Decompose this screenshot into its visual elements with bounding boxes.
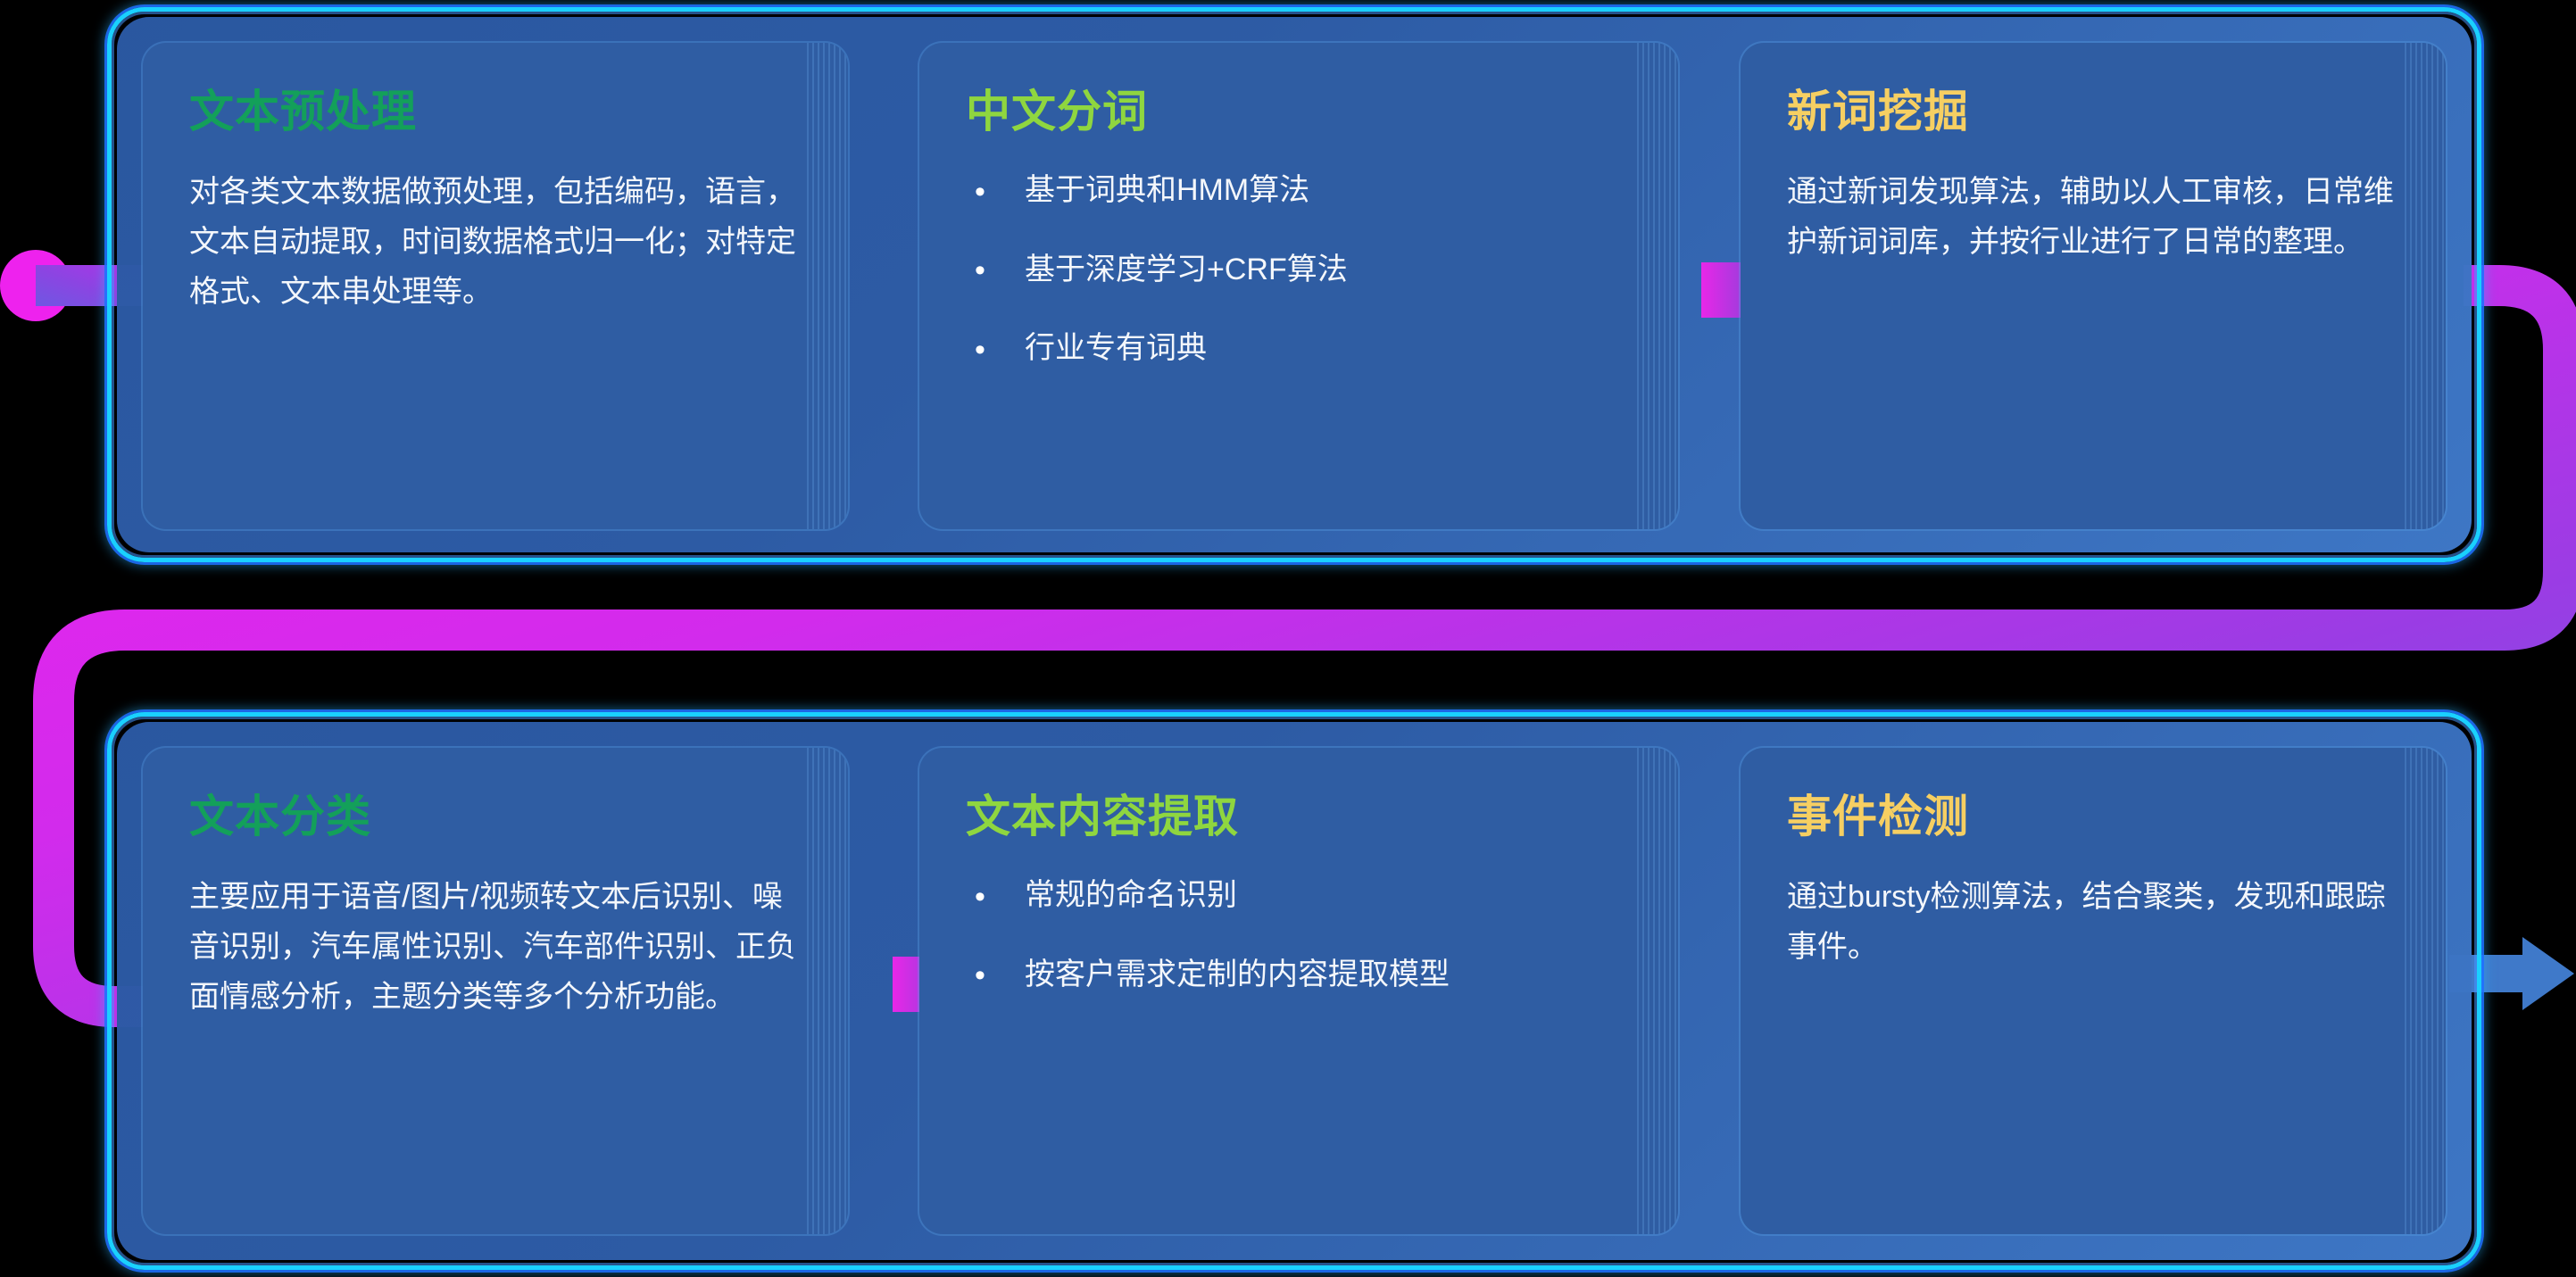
list-item: • 基于词典和HMM算法 <box>966 167 1632 214</box>
card-title: 文本预处理 <box>189 87 802 137</box>
card-bullet-list: • 基于词典和HMM算法 • 基于深度学习+CRF算法 • 行业专有词典 <box>966 167 1632 372</box>
card-body-text: 主要应用于语音/图片/视频转文本后识别、噪音识别，汽车属性识别、汽车部件识别、正… <box>189 872 802 1022</box>
card-text-content-extraction[interactable]: 文本内容提取 • 常规的命名识别 • 按客户需求定制的内容提取模型 <box>919 748 1678 1234</box>
list-item-label: 按客户需求定制的内容提取模型 <box>1025 958 1450 991</box>
card-title: 文本内容提取 <box>966 792 1632 842</box>
end-arrow-icon <box>2522 937 2574 1010</box>
connector-tab-card3 <box>1701 262 1742 318</box>
card-text-preprocessing[interactable]: 文本预处理 对各类文本数据做预处理，包括编码，语言，文本自动提取，时间数据格式归… <box>143 43 848 529</box>
card-body-text: 通过新词发现算法，辅助以人工审核，日常维护新词词库，并按行业进行了日常的整理。 <box>1787 167 2399 267</box>
list-item: • 常规的命名识别 <box>966 872 1632 919</box>
list-item-label: 行业专有词典 <box>1025 331 1207 365</box>
card-title: 新词挖掘 <box>1787 87 2399 137</box>
bullet-icon: • <box>975 247 985 294</box>
card-title: 事件检测 <box>1787 792 2399 842</box>
bullet-icon: • <box>975 327 985 374</box>
list-item-label: 基于深度学习+CRF算法 <box>1025 253 1348 286</box>
card-chinese-word-segmentation[interactable]: 中文分词 • 基于词典和HMM算法 • 基于深度学习+CRF算法 • 行业专有词… <box>919 43 1678 529</box>
start-dot-icon <box>0 250 71 321</box>
bullet-icon: • <box>975 874 985 921</box>
card-body-text: 通过bursty检测算法，结合聚类，发现和跟踪事件。 <box>1787 872 2399 972</box>
card-body-text: 对各类文本数据做预处理，包括编码，语言，文本自动提取，时间数据格式归一化；对特定… <box>189 167 802 317</box>
bullet-icon: • <box>975 169 985 216</box>
list-item-label: 常规的命名识别 <box>1025 878 1237 912</box>
card-event-detection[interactable]: 事件检测 通过bursty检测算法，结合聚类，发现和跟踪事件。 <box>1741 748 2446 1234</box>
diagram-canvas: 文本预处理 对各类文本数据做预处理，包括编码，语言，文本自动提取，时间数据格式归… <box>0 0 2576 1277</box>
list-item: • 行业专有词典 <box>966 325 1632 372</box>
list-item: • 基于深度学习+CRF算法 <box>966 246 1632 294</box>
card-title: 中文分词 <box>966 87 1632 137</box>
card-new-word-mining[interactable]: 新词挖掘 通过新词发现算法，辅助以人工审核，日常维护新词词库，并按行业进行了日常… <box>1741 43 2446 529</box>
bullet-icon: • <box>975 952 985 999</box>
card-bullet-list: • 常规的命名识别 • 按客户需求定制的内容提取模型 <box>966 872 1632 998</box>
card-title: 文本分类 <box>189 792 802 842</box>
list-item-label: 基于词典和HMM算法 <box>1025 173 1309 207</box>
card-text-classification[interactable]: 文本分类 主要应用于语音/图片/视频转文本后识别、噪音识别，汽车属性识别、汽车部… <box>143 748 848 1234</box>
list-item: • 按客户需求定制的内容提取模型 <box>966 951 1632 999</box>
